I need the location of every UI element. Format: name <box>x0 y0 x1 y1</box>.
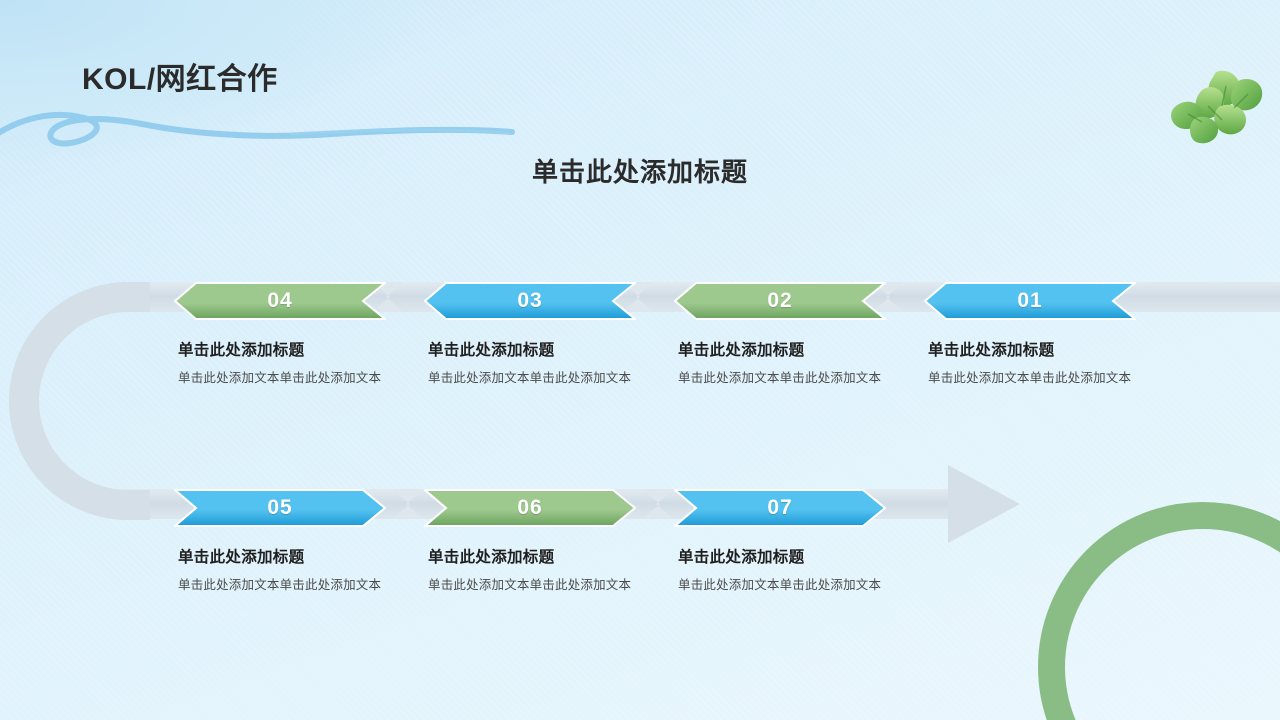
step-chevron-05[interactable]: 05 <box>174 489 386 527</box>
step-chevron-03[interactable]: 03 <box>424 282 636 320</box>
step-number: 03 <box>424 282 636 320</box>
step-heading: 单击此处添加标题 <box>428 545 633 567</box>
step-text-01: 单击此处添加标题 单击此处添加文本单击此处添加文本 <box>928 338 1133 388</box>
step-text-07: 单击此处添加标题 单击此处添加文本单击此处添加文本 <box>678 545 883 595</box>
step-number: 04 <box>174 282 386 320</box>
step-heading: 单击此处添加标题 <box>678 338 883 360</box>
step-body: 单击此处添加文本单击此处添加文本 <box>928 369 1133 388</box>
step-text-02: 单击此处添加标题 单击此处添加文本单击此处添加文本 <box>678 338 883 388</box>
step-number: 06 <box>424 489 636 527</box>
step-body: 单击此处添加文本单击此处添加文本 <box>178 576 383 595</box>
mint-leaves-photo <box>1152 62 1272 158</box>
step-chevron-01[interactable]: 01 <box>924 282 1136 320</box>
step-number: 07 <box>674 489 886 527</box>
step-text-06: 单击此处添加标题 单击此处添加文本单击此处添加文本 <box>428 545 633 595</box>
step-text-03: 单击此处添加标题 单击此处添加文本单击此处添加文本 <box>428 338 633 388</box>
step-chevron-02[interactable]: 02 <box>674 282 886 320</box>
step-body: 单击此处添加文本单击此处添加文本 <box>428 576 633 595</box>
step-heading: 单击此处添加标题 <box>178 338 383 360</box>
step-heading: 单击此处添加标题 <box>928 338 1133 360</box>
step-chevron-04[interactable]: 04 <box>174 282 386 320</box>
step-heading: 单击此处添加标题 <box>428 338 633 360</box>
step-body: 单击此处添加文本单击此处添加文本 <box>428 369 633 388</box>
step-chevron-07[interactable]: 07 <box>674 489 886 527</box>
step-heading: 单击此处添加标题 <box>678 545 883 567</box>
step-heading: 单击此处添加标题 <box>178 545 383 567</box>
step-number: 02 <box>674 282 886 320</box>
step-body: 单击此处添加文本单击此处添加文本 <box>678 576 883 595</box>
step-text-05: 单击此处添加标题 单击此处添加文本单击此处添加文本 <box>178 545 383 595</box>
step-body: 单击此处添加文本单击此处添加文本 <box>178 369 383 388</box>
step-body: 单击此处添加文本单击此处添加文本 <box>678 369 883 388</box>
step-chevron-06[interactable]: 06 <box>424 489 636 527</box>
step-number: 05 <box>174 489 386 527</box>
step-text-04: 单击此处添加标题 单击此处添加文本单击此处添加文本 <box>178 338 383 388</box>
main-heading: 单击此处添加标题 <box>0 152 1280 189</box>
step-number: 01 <box>924 282 1136 320</box>
header: KOL/网红合作 <box>82 54 278 98</box>
brush-underline-icon <box>0 88 532 154</box>
